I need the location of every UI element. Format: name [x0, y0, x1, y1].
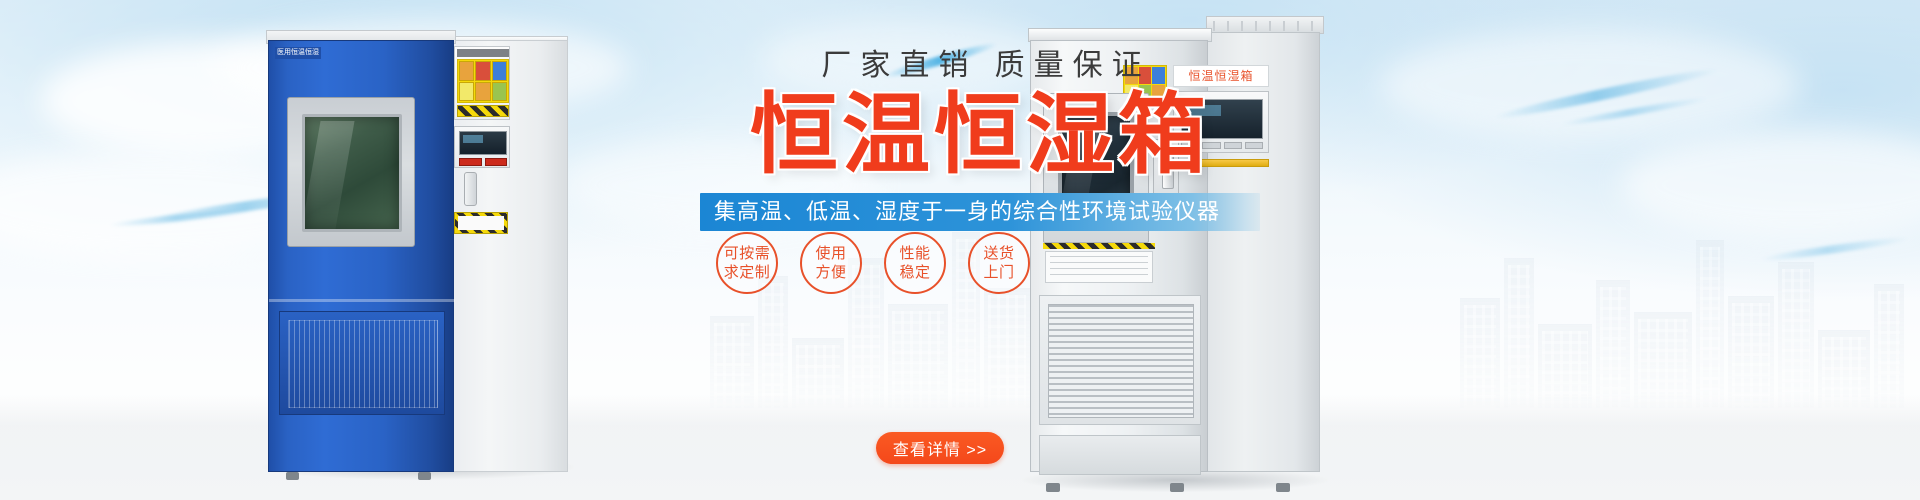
feature-badge-delivery[interactable]: 送货 上门	[968, 232, 1030, 294]
chamber-lower-section	[279, 311, 445, 415]
feature-badge-stable[interactable]: 性能 稳定	[884, 232, 946, 294]
chamber-foot	[286, 472, 299, 480]
feature-badge-easy-use[interactable]: 使用 方便	[800, 232, 862, 294]
badge-line-1: 可按需	[724, 244, 771, 263]
badge-line-1: 使用	[815, 244, 846, 263]
badge-line-1: 送货	[983, 244, 1014, 263]
feature-badge-custom[interactable]: 可按需 求定制	[716, 232, 778, 294]
chamber-warning-panel	[454, 46, 510, 120]
chamber-body: 医用恒温恒湿箱	[268, 40, 454, 472]
banner-headline: 恒温恒湿箱	[700, 88, 1260, 181]
chamber-lower-section	[1039, 295, 1201, 425]
banner-tagline: 厂家直销 质量保证	[712, 40, 1260, 84]
feature-badge-list: 可按需 求定制 使用 方便 性能 稳定 送货 上门	[716, 232, 1030, 294]
warning-label-grid	[457, 59, 509, 103]
badge-line-1: 性能	[899, 244, 930, 263]
chamber-spec-plate	[454, 212, 508, 234]
chamber-door	[287, 97, 415, 247]
chamber-foot	[418, 472, 431, 480]
chamber-controller	[454, 126, 510, 168]
panel-title-bar	[457, 49, 509, 57]
chamber-door-handle	[464, 172, 477, 206]
badge-line-2: 求定制	[724, 263, 771, 282]
chamber-viewing-window	[302, 114, 402, 232]
chamber-panel-seam	[269, 299, 455, 302]
chamber-vent-grille	[1048, 304, 1194, 418]
controller-led-row	[459, 158, 507, 166]
hazard-stripe	[457, 105, 509, 117]
cloud-shape	[1380, 30, 1800, 140]
view-details-button[interactable]: 查看详情 >>	[876, 432, 1004, 464]
chamber-base-plate	[1039, 435, 1201, 475]
chamber-foot	[1046, 483, 1060, 492]
banner-subtitle: 集高温、低温、湿度于一身的综合性环境试验仪器	[700, 193, 1260, 231]
chamber-foot	[1276, 483, 1290, 492]
badge-line-2: 上门	[983, 263, 1014, 282]
chamber-model-label: 医用恒温恒湿箱	[275, 47, 321, 59]
badge-line-2: 稳定	[899, 263, 930, 282]
banner-text-block: 厂家直销 质量保证 恒温恒湿箱 集高温、低温、湿度于一身的综合性环境试验仪器	[700, 40, 1260, 231]
chamber-spec-plate	[1045, 251, 1153, 283]
hazard-stripe	[1043, 243, 1155, 249]
product-image-left-chamber: 医用恒温恒湿箱	[268, 26, 568, 476]
badge-line-2: 方便	[815, 263, 846, 282]
promo-banner: 医用恒温恒湿箱	[0, 0, 1920, 500]
chamber-foot	[1170, 483, 1184, 492]
chamber-vent-grille	[288, 320, 438, 408]
controller-screen	[459, 131, 507, 155]
